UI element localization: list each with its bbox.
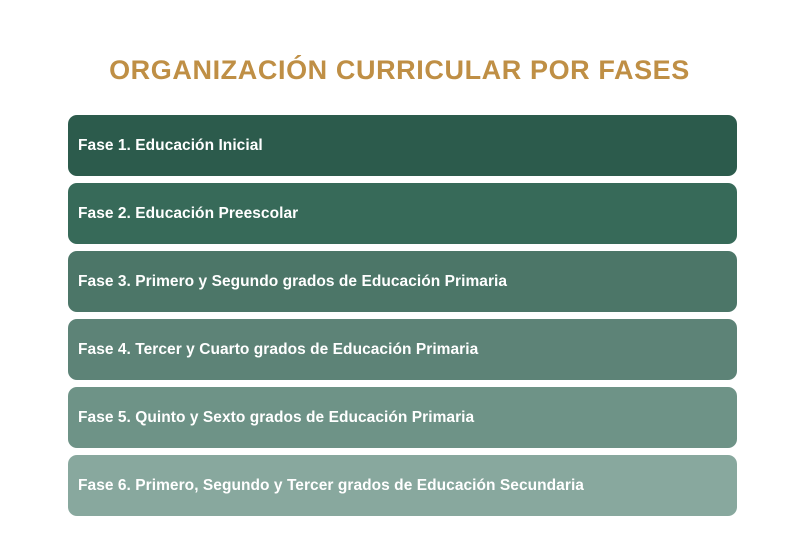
- phase-bar-4[interactable]: Fase 4. Tercer y Cuarto grados de Educac…: [68, 319, 737, 380]
- phase-bar-6[interactable]: Fase 6. Primero, Segundo y Tercer grados…: [68, 455, 737, 516]
- phase-bar-5[interactable]: Fase 5. Quinto y Sexto grados de Educaci…: [68, 387, 737, 448]
- phase-bar-1[interactable]: Fase 1. Educación Inicial: [68, 115, 737, 176]
- phase-bar-6-label: Fase 6. Primero, Segundo y Tercer grados…: [78, 477, 584, 495]
- phase-bar-3-label: Fase 3. Primero y Segundo grados de Educ…: [78, 273, 507, 291]
- phase-bar-2-label: Fase 2. Educación Preescolar: [78, 205, 298, 223]
- phase-bar-1-label: Fase 1. Educación Inicial: [78, 137, 263, 155]
- curricular-phases-infographic: ORGANIZACIÓN CURRICULAR POR FASES Fase 1…: [0, 0, 799, 556]
- phase-bar-3[interactable]: Fase 3. Primero y Segundo grados de Educ…: [68, 251, 737, 312]
- phase-bar-5-label: Fase 5. Quinto y Sexto grados de Educaci…: [78, 409, 474, 427]
- phase-list: Fase 1. Educación Inicial Fase 2. Educac…: [68, 115, 737, 516]
- phase-bar-2[interactable]: Fase 2. Educación Preescolar: [68, 183, 737, 244]
- page-title: ORGANIZACIÓN CURRICULAR POR FASES: [0, 55, 799, 86]
- phase-bar-4-label: Fase 4. Tercer y Cuarto grados de Educac…: [78, 341, 478, 359]
